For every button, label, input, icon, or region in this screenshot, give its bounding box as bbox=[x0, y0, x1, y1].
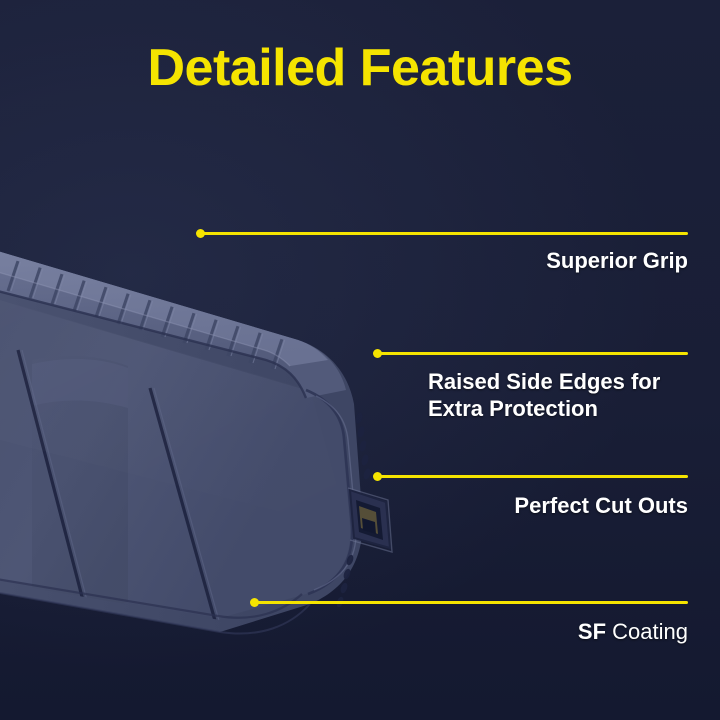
callout-label-sf-bold: SF bbox=[578, 619, 606, 644]
page-title: Detailed Features bbox=[0, 42, 720, 94]
callout-label-coating-word: Coating bbox=[612, 619, 688, 644]
callout-label-raised-side-edges: Raised Side Edges for Extra Protection bbox=[428, 369, 660, 423]
callout-leader-line bbox=[377, 475, 688, 478]
feature-infographic: Superior Grip Raised Side Edges for Extr… bbox=[0, 0, 720, 720]
callout-leader-line bbox=[200, 232, 688, 235]
product-image-phone-case bbox=[0, 60, 450, 700]
callout-label-sf-coating: SF Coating bbox=[578, 619, 688, 646]
callout-label-perfect-cut-outs: Perfect Cut Outs bbox=[514, 493, 688, 520]
callout-label-line-1: Raised Side Edges for bbox=[428, 369, 660, 396]
callout-label-superior-grip: Superior Grip bbox=[546, 248, 688, 275]
callout-label-line-2: Extra Protection bbox=[428, 396, 660, 423]
callout-leader-line bbox=[377, 352, 688, 355]
callout-leader-line bbox=[254, 601, 688, 604]
